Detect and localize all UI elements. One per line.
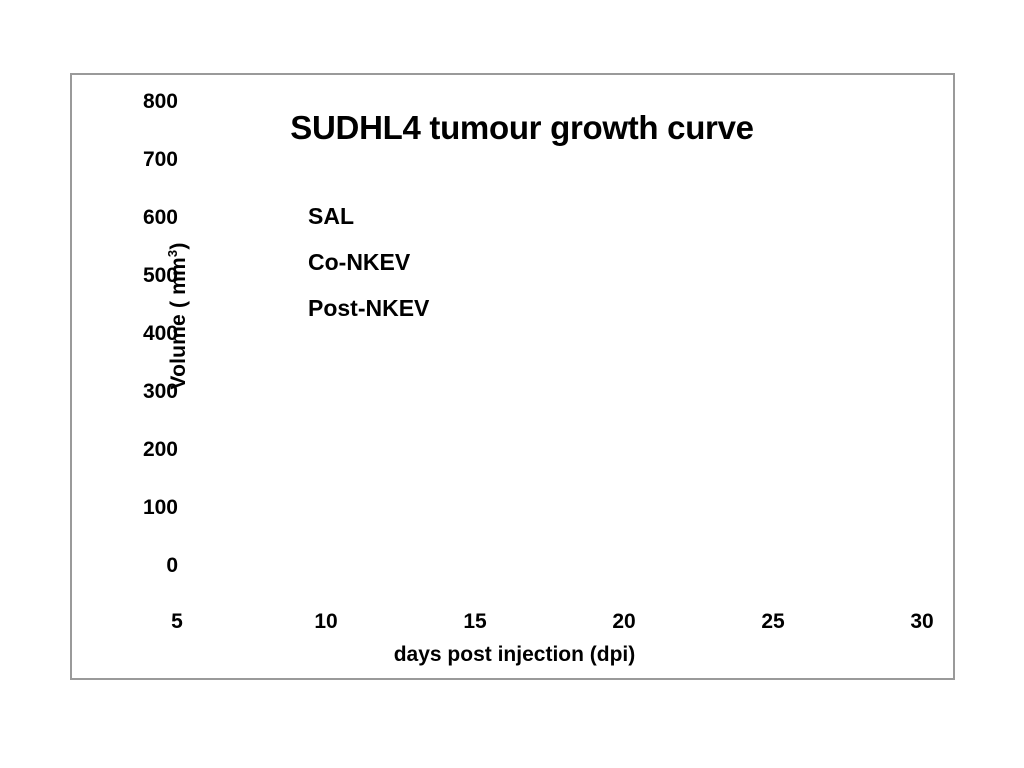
plot-area bbox=[72, 75, 957, 682]
chart-frame: SUDHL4 tumour growth curve Volume ( mm3)… bbox=[70, 73, 955, 680]
chart-page: SUDHL4 tumour growth curve Volume ( mm3)… bbox=[0, 0, 1024, 768]
